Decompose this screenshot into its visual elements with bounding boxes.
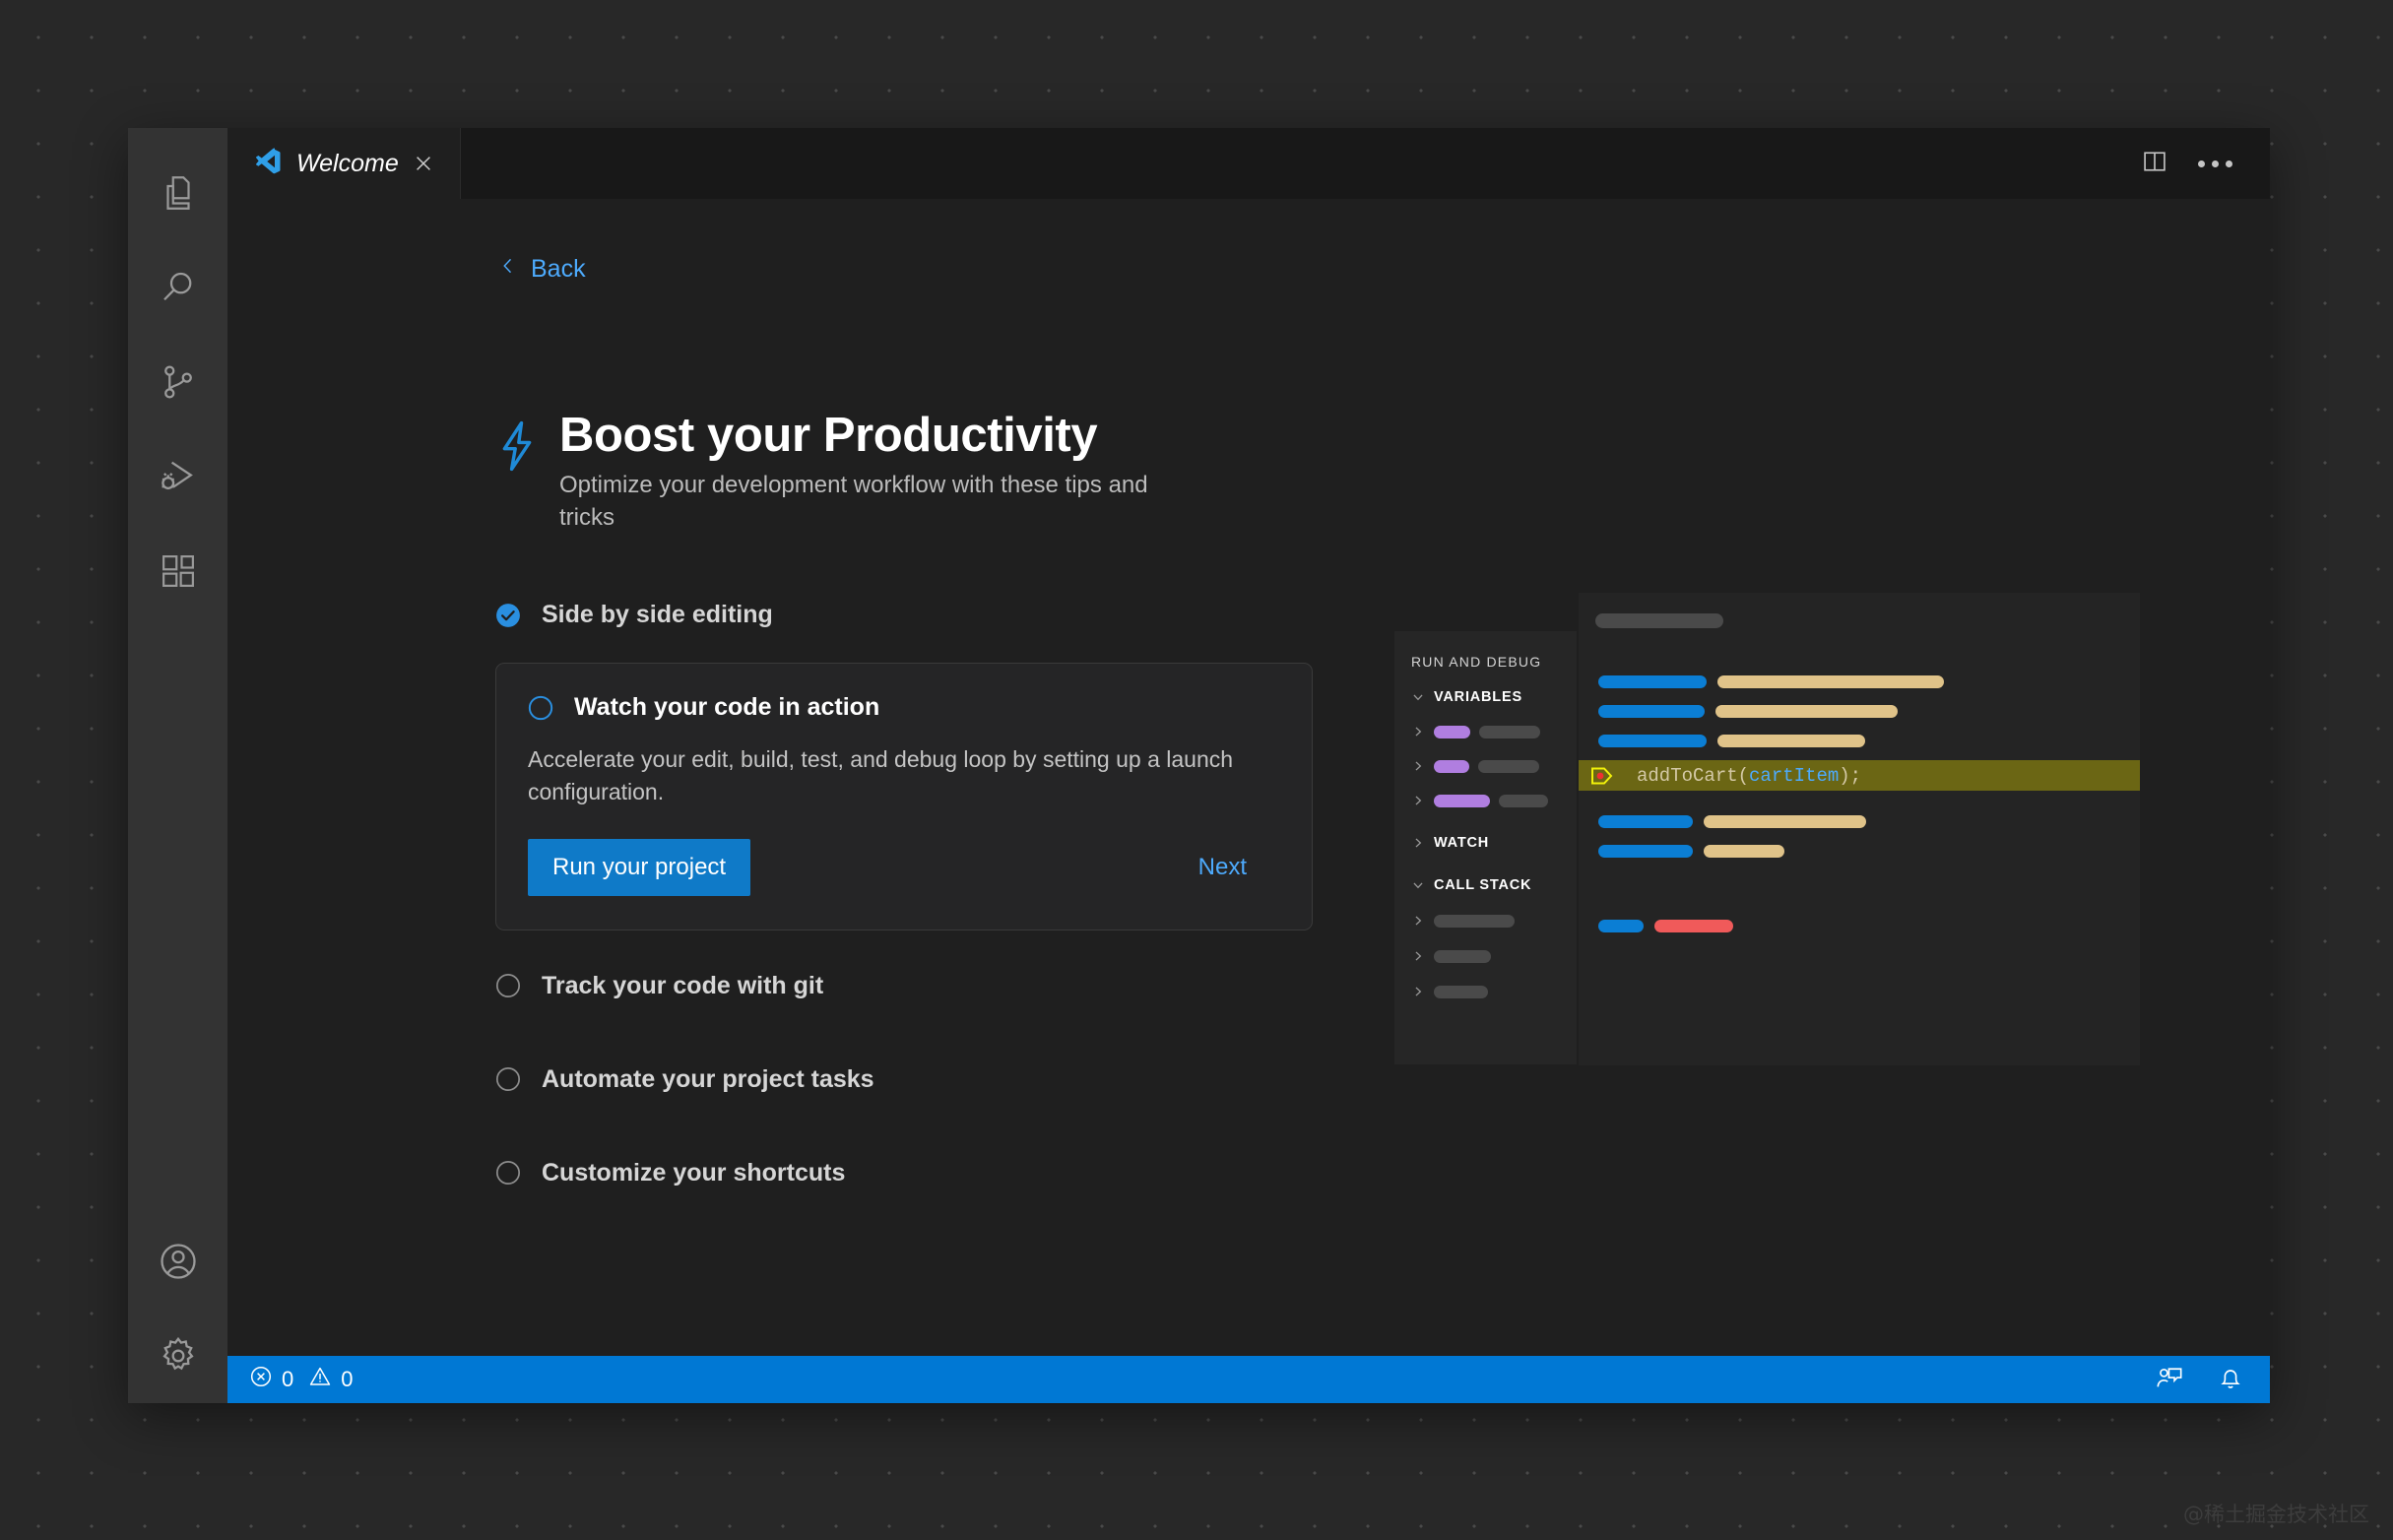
source-control-icon [158, 361, 199, 403]
debug-callstack-row[interactable] [1411, 906, 1577, 935]
step-label: Side by side editing [542, 601, 773, 629]
run-your-project-button[interactable]: Run your project [528, 839, 750, 896]
step-card-description: Accelerate your edit, build, test, and d… [528, 743, 1280, 809]
debug-section-variables[interactable]: VARIABLES [1411, 682, 1577, 712]
tab-title: Welcome [296, 150, 399, 178]
tab-welcome[interactable]: Welcome [227, 128, 461, 199]
circle-outline-icon [528, 695, 553, 721]
page-title: Boost your Productivity [559, 411, 1170, 461]
code-placeholder-line [1598, 701, 1898, 721]
lightning-bolt-icon [495, 419, 539, 478]
debug-sidebar: RUN AND DEBUG VARIABLES [1394, 631, 1577, 1064]
breakpoint-arrow-icon[interactable] [1590, 764, 1615, 788]
chevron-left-icon [498, 255, 518, 284]
more-actions-icon[interactable] [2198, 160, 2232, 167]
status-bar: 0 0 [227, 1356, 2270, 1403]
debug-variable-row[interactable] [1411, 751, 1577, 781]
chevron-right-icon [1411, 914, 1425, 928]
debug-section-call-stack[interactable]: CALL STACK [1411, 870, 1577, 900]
chevron-right-icon [1411, 794, 1425, 807]
next-link[interactable]: Next [1198, 854, 1280, 881]
error-count: 0 [282, 1367, 293, 1392]
warning-icon [308, 1365, 332, 1394]
warning-count: 0 [341, 1367, 353, 1392]
step-label: Automate your project tasks [542, 1065, 874, 1094]
step-card-watch-your-code-in-action[interactable]: Watch your code in action Accelerate you… [495, 663, 1313, 930]
page-subtitle: Optimize your development workflow with … [559, 470, 1170, 534]
extensions-icon [158, 550, 199, 592]
walkthrough-header: Boost your Productivity Optimize your de… [495, 411, 1170, 535]
activity-bar [128, 128, 227, 1403]
bell-icon[interactable] [2217, 1364, 2244, 1396]
debug-callstack-row[interactable] [1411, 941, 1577, 971]
debug-section-label: CALL STACK [1434, 877, 1531, 893]
split-editor-icon[interactable] [2141, 148, 2168, 180]
vscode-window: Welcome [128, 128, 2270, 1403]
debug-section-label: VARIABLES [1434, 689, 1522, 705]
feedback-icon[interactable] [2156, 1364, 2183, 1396]
vscode-logo-icon [253, 147, 283, 181]
debug-section-label: WATCH [1434, 835, 1489, 851]
activity-bar-item-manage[interactable] [128, 1309, 227, 1403]
debug-callstack-row[interactable] [1411, 977, 1577, 1006]
code-placeholder-line [1598, 916, 1733, 935]
step-card-actions: Run your project Next [528, 839, 1280, 896]
files-icon [158, 172, 199, 214]
step-customize-your-shortcuts[interactable]: Customize your shortcuts [468, 1143, 1313, 1203]
step-label: Customize your shortcuts [542, 1159, 845, 1187]
step-side-by-side-editing[interactable]: Side by side editing [468, 585, 1313, 645]
debug-section-watch[interactable]: WATCH [1411, 828, 1577, 858]
code-placeholder-line [1598, 672, 1944, 691]
step-track-your-code-with-git[interactable]: Track your code with git [468, 956, 1313, 1016]
chevron-right-icon [1411, 985, 1425, 998]
search-icon [158, 267, 199, 308]
chevron-down-icon [1411, 690, 1425, 704]
debug-panel-title: RUN AND DEBUG [1411, 654, 1577, 670]
activity-bar-item-run-and-debug[interactable] [128, 429, 227, 524]
account-icon [157, 1240, 200, 1283]
debug-current-line: addToCart(cartItem); [1579, 760, 2140, 791]
step-card-title: Watch your code in action [574, 693, 879, 722]
circle-outline-icon [495, 973, 521, 998]
editor-actions [2141, 128, 2270, 199]
circle-outline-icon [495, 1066, 521, 1092]
debug-illustration: addToCart(cartItem); [1394, 593, 2182, 1105]
step-label: Track your code with git [542, 972, 823, 1000]
chevron-right-icon [1411, 725, 1425, 738]
error-icon [249, 1365, 273, 1394]
step-automate-your-project-tasks[interactable]: Automate your project tasks [468, 1050, 1313, 1110]
debug-current-line-code: addToCart(cartItem); [1637, 765, 1861, 787]
illustration-code-editor: addToCart(cartItem); [1579, 648, 2140, 1065]
status-bar-left: 0 0 [249, 1365, 354, 1394]
chevron-right-icon [1411, 949, 1425, 963]
chevron-down-icon [1411, 878, 1425, 892]
gear-icon [157, 1334, 200, 1378]
debug-variable-row[interactable] [1411, 786, 1577, 815]
run-debug-icon [157, 455, 200, 498]
circle-outline-icon [495, 1160, 521, 1186]
check-circle-filled-icon [495, 603, 521, 628]
illustration-tab-strip [1579, 593, 2140, 648]
code-placeholder-line [1598, 841, 1784, 861]
activity-bar-item-accounts[interactable] [128, 1214, 227, 1309]
chevron-right-icon [1411, 836, 1425, 850]
activity-bar-item-source-control[interactable] [128, 335, 227, 429]
activity-bar-item-search[interactable] [128, 240, 227, 335]
status-bar-right [2156, 1364, 2244, 1396]
tab-bar: Welcome [227, 128, 2270, 199]
back-button[interactable]: Back [498, 255, 586, 284]
back-label: Back [531, 255, 586, 284]
chevron-right-icon [1411, 759, 1425, 773]
status-bar-problems[interactable]: 0 0 [249, 1365, 354, 1394]
walkthrough-steps: Side by side editing Watch your code in … [495, 585, 1313, 1203]
editor-area: Welcome [227, 128, 2270, 1403]
activity-bar-item-explorer[interactable] [128, 146, 227, 240]
close-icon[interactable] [413, 153, 434, 174]
step-card-header: Watch your code in action [528, 693, 1280, 722]
code-placeholder-line [1598, 811, 1866, 831]
walkthrough-page: Back Boost your Productivity Optimize yo… [227, 199, 2270, 1356]
activity-bar-item-extensions[interactable] [128, 524, 227, 618]
illustration-tab-placeholder [1595, 613, 1723, 628]
code-placeholder-line [1598, 731, 1865, 750]
debug-variable-row[interactable] [1411, 717, 1577, 746]
watermark: @稀土掘金技术社区 [2183, 1499, 2369, 1528]
screenshot-root: Welcome [0, 0, 2393, 1540]
